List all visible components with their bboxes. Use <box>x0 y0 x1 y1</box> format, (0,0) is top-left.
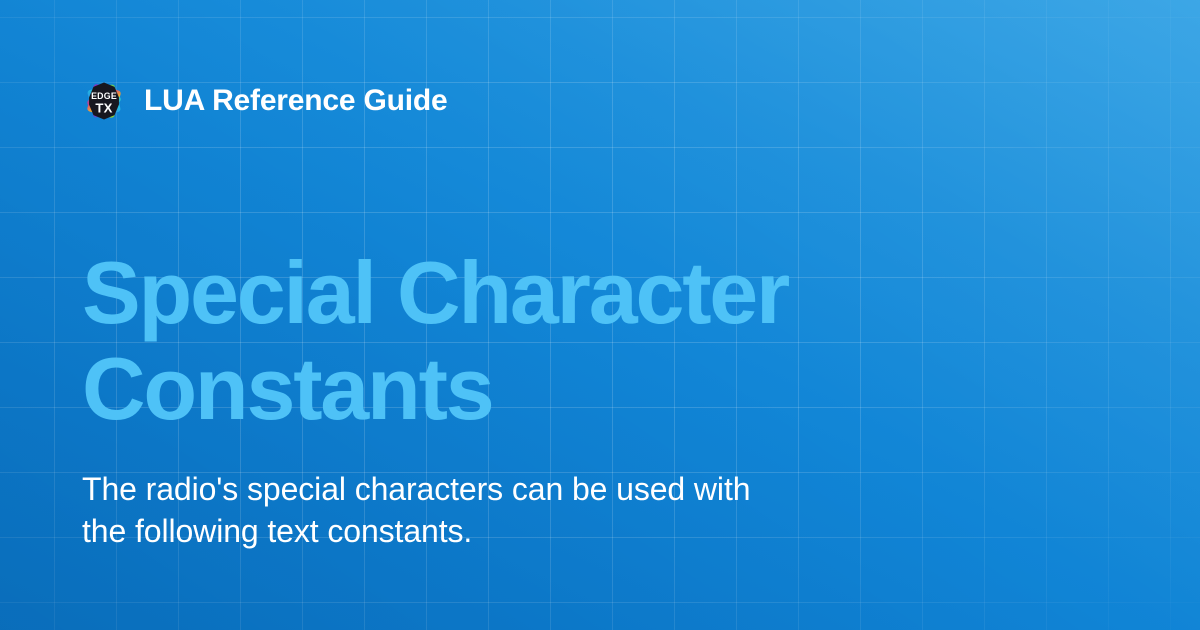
page-title-line-2: Constants <box>82 341 1082 437</box>
page-title: Special Character Constants <box>82 245 1082 437</box>
logo-tx-text: TX <box>95 100 112 115</box>
logo-edge-text: EDGE <box>91 91 117 101</box>
page-subtitle-line-2: the following text constants. <box>82 510 902 552</box>
page-subtitle-line-1: The radio's special characters can be us… <box>82 468 902 510</box>
edgetx-logo-icon: EDGE TX <box>82 79 126 123</box>
social-card: EDGE TX LUA Reference Guide Special Char… <box>0 0 1200 630</box>
page-title-line-1: Special Character <box>82 245 1082 341</box>
brand-header: EDGE TX LUA Reference Guide <box>82 79 448 123</box>
header-title: LUA Reference Guide <box>144 79 448 123</box>
page-subtitle: The radio's special characters can be us… <box>82 468 902 552</box>
